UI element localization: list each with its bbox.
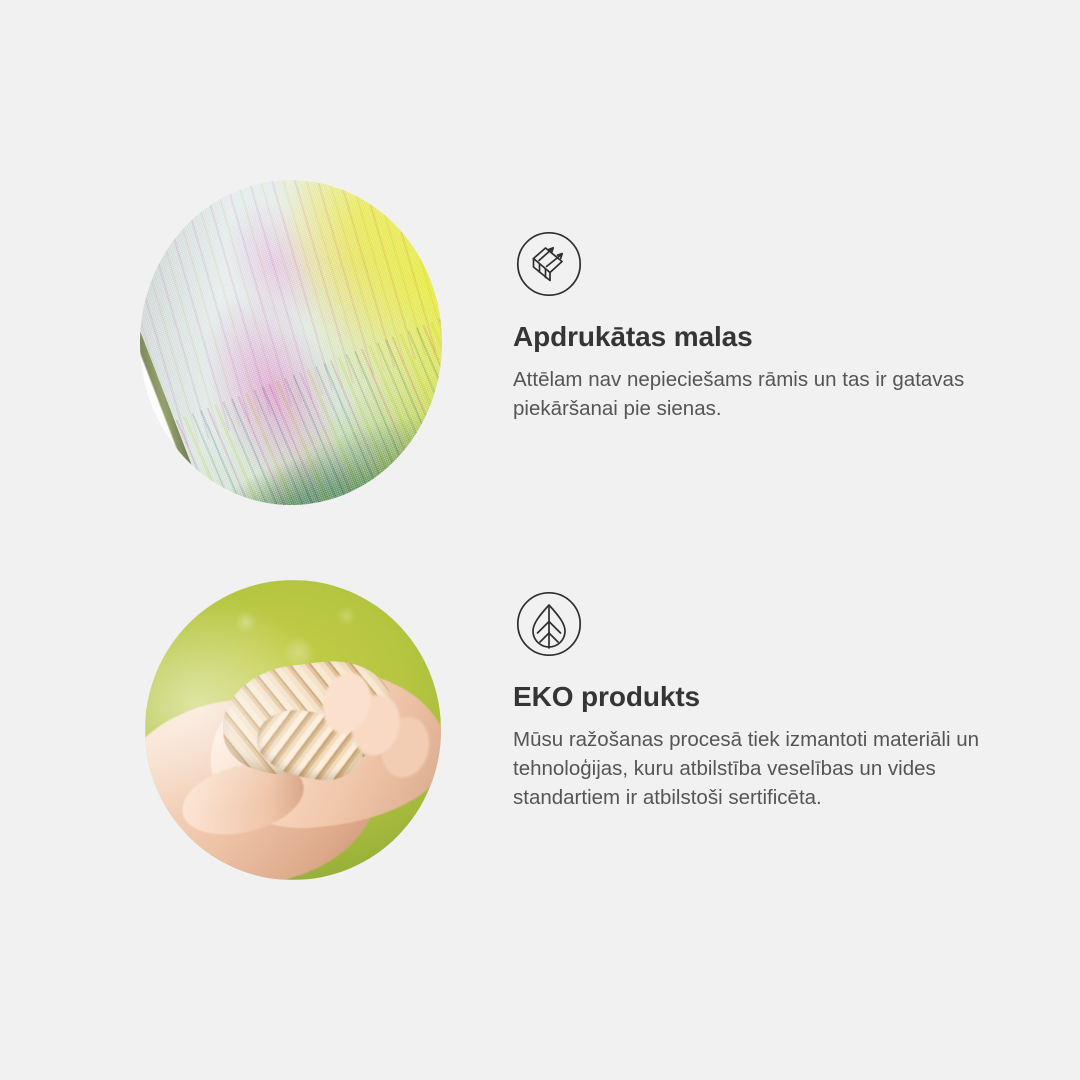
wrapped-canvas-edge-icon xyxy=(513,228,585,300)
printed-edges-image xyxy=(140,180,442,505)
feature-title: EKO produkts xyxy=(513,682,1023,713)
feature-description: Attēlam nav nepieciešams rāmis un tas ir… xyxy=(513,365,993,423)
canvas-paint-strokes xyxy=(175,299,442,505)
eco-product-copy: EKO produkts Mūsu ražošanas procesā tiek… xyxy=(513,588,1023,812)
printed-edges-copy: Apdrukātas malas Attēlam nav nepieciešam… xyxy=(513,228,1013,423)
leaf-icon xyxy=(513,588,585,660)
feature-title: Apdrukātas malas xyxy=(513,322,1013,353)
canvas-paint-speckle xyxy=(140,180,442,447)
feature-description: Mūsu ražošanas procesā tiek izmantoti ma… xyxy=(513,725,1008,812)
canvas-panel xyxy=(140,180,442,505)
feature-infographic: Apdrukātas malas Attēlam nav nepieciešam… xyxy=(0,0,1080,1080)
eco-product-image xyxy=(145,580,441,880)
